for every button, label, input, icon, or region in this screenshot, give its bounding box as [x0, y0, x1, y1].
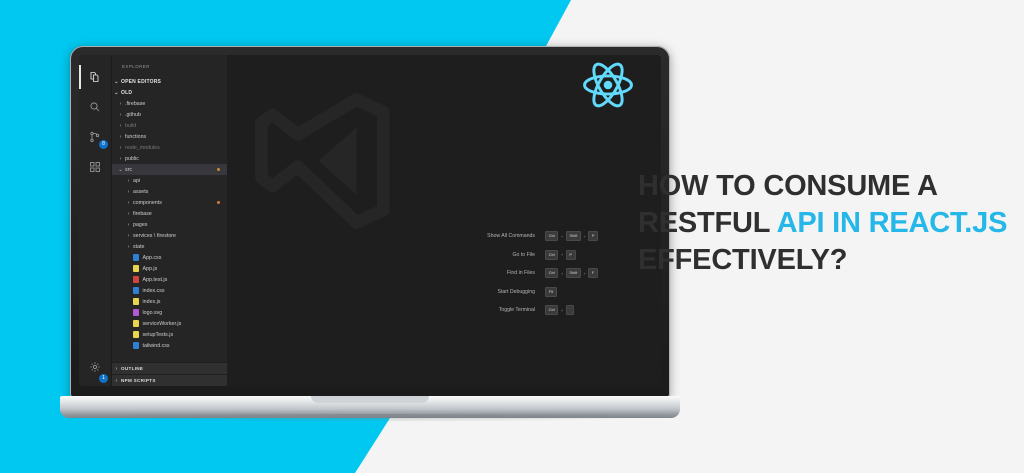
headline-line-2-accent: API IN REACT.JS	[777, 207, 1008, 239]
shortcut-label[interactable]: Find in Files	[507, 270, 535, 276]
tree-folder-item[interactable]: ⌄src	[112, 164, 227, 175]
tree-item-label: index.js	[143, 299, 228, 305]
source-control-badge: 8	[99, 140, 108, 149]
chevron-right-icon: ›	[116, 112, 125, 118]
tree-folder-item[interactable]: ›services \ firestore	[112, 230, 227, 241]
keycap: Ctrl	[545, 305, 558, 315]
sidebar-footer-label: NPM SCRIPTS	[121, 378, 156, 383]
activity-bar: 8 1	[79, 55, 111, 386]
chevron-right-icon: ›	[124, 211, 133, 217]
key-separator: +	[561, 252, 563, 257]
file-tree[interactable]: ⌄OPEN EDITORS⌄OLD›.firebase›.github›buil…	[112, 76, 227, 362]
tree-item-label: components	[133, 200, 217, 206]
chevron-down-icon: ⌄	[112, 90, 121, 96]
sidebar-footer-label: OUTLINE	[121, 366, 143, 371]
tree-item-status-dot	[217, 201, 220, 204]
sidebar-footers: ›OUTLINE›NPM SCRIPTS	[112, 362, 227, 386]
explorer-sidebar: EXPLORER ⌄OPEN EDITORS⌄OLD›.firebase›.gi…	[111, 55, 227, 386]
laptop-base-shadow	[54, 414, 686, 422]
chevron-right-icon: ›	[116, 134, 125, 140]
key-separator: +	[561, 271, 563, 276]
shortcut-row: Go to FileCtrl+P	[227, 250, 601, 260]
tree-file-item[interactable]: index.css	[112, 285, 227, 296]
tree-item-label: App.js	[143, 266, 228, 272]
chevron-right-icon: ›	[124, 244, 133, 250]
tree-folder-item[interactable]: ›.github	[112, 109, 227, 120]
css-file-icon	[133, 254, 139, 261]
tree-folder-item[interactable]: ›api	[112, 175, 227, 186]
js-file-icon	[133, 320, 139, 327]
tree-item-label: node_modules	[125, 145, 227, 151]
tree-item-label: App.test.js	[143, 277, 228, 283]
tree-file-item[interactable]: App.css	[112, 252, 227, 263]
chevron-right-icon: ›	[124, 189, 133, 195]
tree-file-item[interactable]: logo.svg	[112, 307, 227, 318]
tree-folder-item[interactable]: ›public	[112, 153, 227, 164]
laptop-mockup: 8 1	[60, 46, 680, 426]
chevron-right-icon: ›	[116, 123, 125, 129]
activity-explorer-icon[interactable]	[79, 62, 111, 92]
tree-item-status-dot	[217, 168, 220, 171]
shortcut-row: Toggle TerminalCtrl+`	[227, 305, 601, 315]
keycap: `	[566, 305, 575, 315]
chevron-right-icon: ›	[116, 145, 125, 151]
tree-item-label: .firebase	[125, 101, 227, 107]
sidebar-footer-section[interactable]: ›OUTLINE	[112, 362, 227, 374]
poster-canvas: 8 1	[0, 0, 1024, 473]
shortcut-row: Show All CommandsCtrl+Shift+P	[227, 231, 601, 241]
key-separator: +	[561, 234, 563, 239]
headline-line-3: EFFECTIVELY?	[638, 244, 847, 276]
chevron-right-icon: ›	[124, 200, 133, 206]
tree-folder-item[interactable]: ›components	[112, 197, 227, 208]
tree-item-label: firebase	[133, 211, 227, 217]
shortcut-label[interactable]: Start Debugging	[498, 289, 536, 295]
chevron-right-icon: ›	[124, 222, 133, 228]
chevron-down-icon: ⌄	[112, 79, 121, 85]
tree-item-label: .github	[125, 112, 227, 118]
chevron-right-icon: ›	[124, 233, 133, 239]
tree-folder-item[interactable]: ›assets	[112, 186, 227, 197]
editor-area: Show All CommandsCtrl+Shift+PGo to FileC…	[227, 55, 661, 386]
tree-folder-item[interactable]: ›node_modules	[112, 142, 227, 153]
laptop-lid: 8 1	[70, 46, 670, 398]
headline-line-2-prefix: RESTFUL	[638, 207, 777, 239]
tree-item-label: serviceWorker.js	[143, 321, 228, 327]
shortcut-keys: Ctrl+Shift+F	[539, 268, 601, 278]
tree-section-header[interactable]: ⌄OPEN EDITORS	[112, 76, 227, 87]
tree-folder-item[interactable]: ›state	[112, 241, 227, 252]
keycap: Ctrl	[545, 250, 558, 260]
shortcut-keys: F5	[539, 287, 601, 297]
vscode-logo-icon	[253, 91, 393, 236]
shortcut-row: Start DebuggingF5	[227, 287, 601, 297]
tree-item-label: state	[133, 244, 227, 250]
tree-item-label: App.css	[143, 255, 228, 261]
tree-file-item[interactable]: index.js	[112, 296, 227, 307]
chevron-right-icon: ›	[124, 178, 133, 184]
shortcut-label[interactable]: Go to File	[513, 252, 536, 258]
key-separator: +	[583, 234, 585, 239]
shortcut-keys: Ctrl+P	[539, 250, 601, 260]
tree-folder-item[interactable]: ›firebase	[112, 208, 227, 219]
test-file-icon	[133, 276, 139, 283]
settings-badge: 1	[99, 374, 108, 383]
keycap: P	[566, 250, 576, 260]
explorer-title: EXPLORER	[112, 55, 227, 76]
keycap: P	[588, 231, 598, 241]
tree-item-label: functions	[125, 134, 227, 140]
activity-search-icon[interactable]	[79, 92, 111, 122]
sidebar-footer-section[interactable]: ›NPM SCRIPTS	[112, 374, 227, 386]
js-file-icon	[133, 298, 139, 305]
tree-folder-item[interactable]: ›functions	[112, 131, 227, 142]
js-file-icon	[133, 265, 139, 272]
shortcut-keys: Ctrl+Shift+P	[539, 231, 601, 241]
activity-extensions-icon[interactable]	[79, 152, 111, 182]
tree-item-label: services \ firestore	[133, 233, 227, 239]
tree-item-label: pages	[133, 222, 227, 228]
tree-item-label: setupTests.js	[143, 332, 228, 338]
react-logo-icon	[581, 61, 635, 114]
keycap: F	[588, 268, 598, 278]
key-separator: +	[583, 271, 585, 276]
page-title: HOW TO CONSUME A RESTFUL API IN REACT.JS…	[638, 168, 1008, 278]
headline-line-1: HOW TO CONSUME A	[638, 170, 938, 202]
tree-item-label: index.css	[143, 288, 228, 294]
tree-item-label: logo.svg	[143, 310, 228, 316]
tree-folder-item[interactable]: ›pages	[112, 219, 227, 230]
svg-file-icon	[133, 309, 139, 316]
activity-source-control-icon[interactable]: 8	[79, 122, 111, 152]
chevron-down-icon: ⌄	[116, 167, 125, 173]
keycap: F5	[545, 287, 557, 297]
css-file-icon	[133, 342, 139, 349]
tree-item-label: src	[125, 167, 217, 173]
shortcut-row: Find in FilesCtrl+Shift+F	[227, 268, 601, 278]
tree-folder-item[interactable]: ›.firebase	[112, 98, 227, 109]
shortcut-label[interactable]: Show All Commands	[487, 233, 535, 239]
tree-file-item[interactable]: App.js	[112, 263, 227, 274]
keycap: Ctrl	[545, 231, 558, 241]
chevron-right-icon: ›	[112, 366, 121, 372]
tree-section-header[interactable]: ⌄OLD	[112, 87, 227, 98]
vscode-window: 8 1	[79, 55, 661, 386]
tree-item-label: tailwind.css	[143, 343, 228, 349]
keycap: Shift	[566, 231, 581, 241]
chevron-right-icon: ›	[116, 156, 125, 162]
css-file-icon	[133, 287, 139, 294]
activity-settings-gear-icon[interactable]: 1	[79, 356, 111, 386]
tree-item-label: build	[125, 123, 227, 129]
tree-section-label: OLD	[121, 90, 227, 96]
tree-file-item[interactable]: tailwind.css	[112, 340, 227, 351]
js-file-icon	[133, 331, 139, 338]
shortcut-label[interactable]: Toggle Terminal	[499, 307, 535, 313]
cyan-top-shape	[0, 0, 600, 48]
key-separator: +	[561, 308, 563, 313]
tree-item-label: assets	[133, 189, 227, 195]
cyan-bottom-shape	[0, 418, 420, 473]
tree-item-label: public	[125, 156, 227, 162]
chevron-right-icon: ›	[112, 378, 121, 384]
tree-folder-item[interactable]: ›build	[112, 120, 227, 131]
keycap: Ctrl	[545, 268, 558, 278]
tree-file-item[interactable]: App.test.js	[112, 274, 227, 285]
shortcut-keys: Ctrl+`	[539, 305, 601, 315]
tree-section-label: OPEN EDITORS	[121, 79, 227, 85]
shortcut-hint-list: Show All CommandsCtrl+Shift+PGo to FileC…	[227, 231, 661, 315]
chevron-right-icon: ›	[116, 101, 125, 107]
tree-file-item[interactable]: setupTests.js	[112, 329, 227, 340]
tree-item-label: api	[133, 178, 227, 184]
keycap: Shift	[566, 268, 581, 278]
tree-file-item[interactable]: serviceWorker.js	[112, 318, 227, 329]
